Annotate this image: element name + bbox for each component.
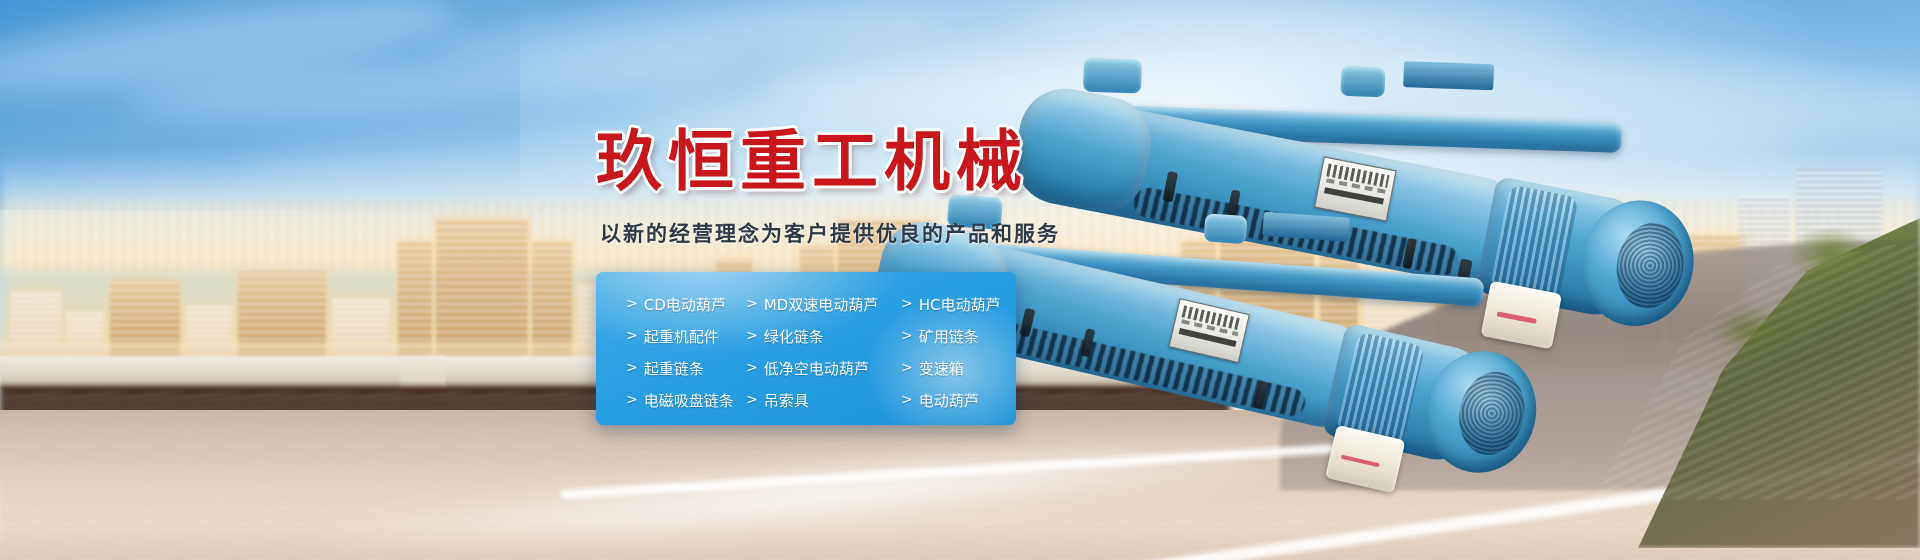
product-link-label: 绿化链条	[764, 326, 824, 347]
chevron-right-icon: >	[746, 328, 758, 344]
hoist-mount-tab	[1403, 61, 1494, 90]
product-link[interactable]: >CD电动葫芦	[626, 294, 746, 315]
chevron-right-icon: >	[901, 328, 913, 344]
chevron-right-icon: >	[746, 392, 758, 408]
product-link-label: CD电动葫芦	[644, 294, 726, 315]
product-link[interactable]: >HC电动葫芦	[901, 294, 1016, 315]
product-link[interactable]: >变速箱	[901, 358, 1016, 379]
promo-banner: 玖恒重工机械 以新的经营理念为客户提供优良的产品和服务 >CD电动葫芦>MD双速…	[0, 0, 1920, 560]
hoist-lug	[1204, 213, 1248, 244]
product-link-label: 电动葫芦	[919, 390, 979, 411]
product-link[interactable]: >电磁吸盘链条	[626, 390, 746, 411]
chevron-right-icon: >	[746, 296, 758, 312]
hoist-lug	[1083, 58, 1142, 94]
chevron-right-icon: >	[626, 328, 638, 344]
hoist-mount-tab	[1262, 212, 1349, 242]
product-link-label: 起重链条	[644, 358, 704, 379]
product-link[interactable]: >吊索具	[746, 390, 901, 411]
product-link[interactable]: >电动葫芦	[901, 390, 1016, 411]
chevron-right-icon: >	[626, 360, 638, 376]
hoist-lug	[1340, 66, 1385, 98]
product-link[interactable]: >绿化链条	[746, 326, 901, 347]
product-link-label: 变速箱	[919, 358, 964, 379]
product-link-label: MD双速电动葫芦	[764, 294, 879, 315]
page-subtitle: 以新的经营理念为客户提供优良的产品和服务	[600, 218, 1060, 248]
product-link[interactable]: >起重链条	[626, 358, 746, 379]
chevron-right-icon: >	[746, 360, 758, 376]
product-links-panel: >CD电动葫芦>MD双速电动葫芦>HC电动葫芦>起重机配件>绿化链条>矿用链条>…	[596, 272, 1016, 425]
product-link-label: 电磁吸盘链条	[644, 390, 734, 411]
page-title: 玖恒重工机械	[596, 108, 1028, 204]
product-link-label: 起重机配件	[644, 326, 719, 347]
product-link[interactable]: >MD双速电动葫芦	[746, 294, 901, 315]
chevron-right-icon: >	[901, 360, 913, 376]
product-link-label: HC电动葫芦	[919, 294, 1001, 315]
product-link[interactable]: >低净空电动葫芦	[746, 358, 901, 379]
chevron-right-icon: >	[626, 296, 638, 312]
chevron-right-icon: >	[901, 296, 913, 312]
product-link[interactable]: >矿用链条	[901, 326, 1016, 347]
product-link-label: 吊索具	[764, 390, 809, 411]
chevron-right-icon: >	[626, 392, 638, 408]
product-link-label: 低净空电动葫芦	[764, 358, 869, 379]
chevron-right-icon: >	[901, 392, 913, 408]
product-link[interactable]: >起重机配件	[626, 326, 746, 347]
product-links-grid: >CD电动葫芦>MD双速电动葫芦>HC电动葫芦>起重机配件>绿化链条>矿用链条>…	[626, 288, 1006, 416]
product-link-label: 矿用链条	[919, 326, 979, 347]
